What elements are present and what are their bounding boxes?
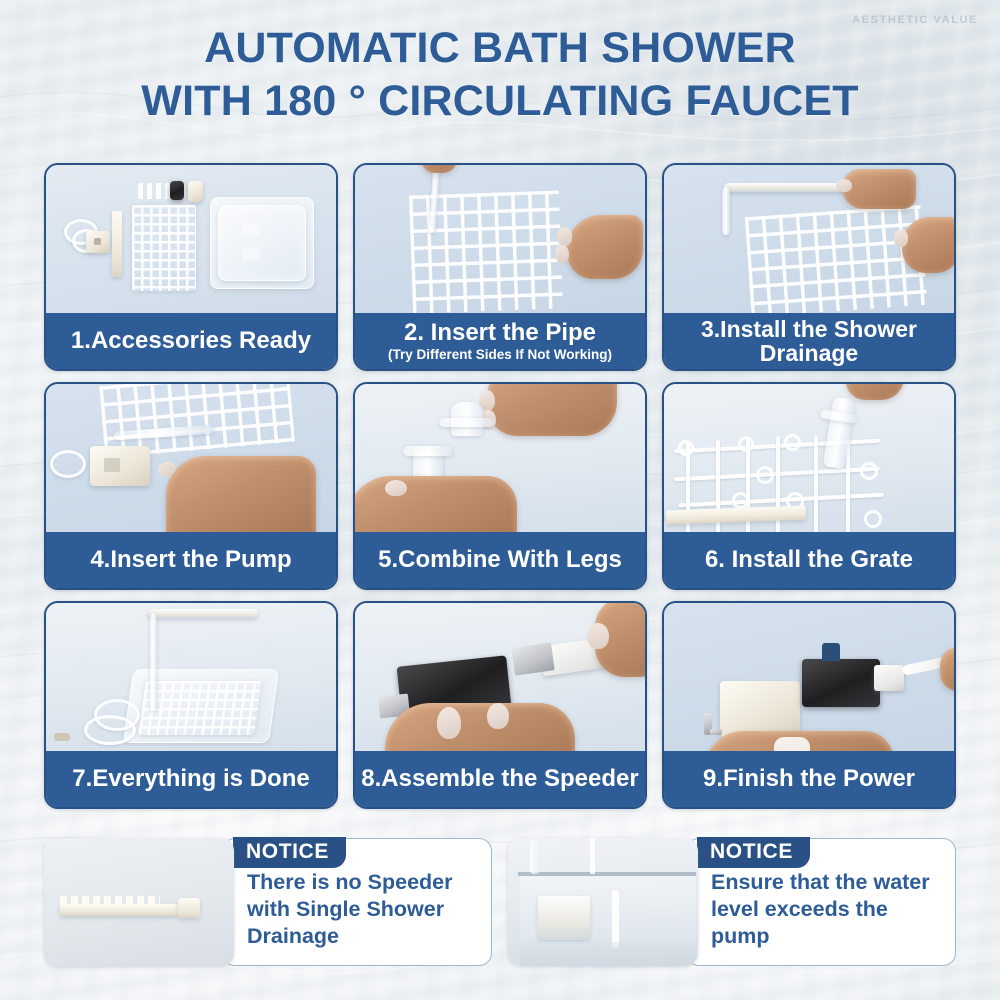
step-caption-text-6: 6. Install the Grate bbox=[705, 547, 913, 572]
step-card-7[interactable]: 7.Everything is Done bbox=[44, 601, 338, 809]
step-card-5[interactable]: 5.Combine With Legs bbox=[353, 382, 647, 590]
step-photo-6 bbox=[664, 384, 954, 536]
notice-text-2: Ensure that the water level exceeds the … bbox=[711, 869, 943, 950]
infographic-page: AESTHETIC VALUE AUTOMATIC BATH SHOWER WI… bbox=[0, 0, 1000, 1000]
step-photo-9 bbox=[664, 603, 954, 755]
step-caption-text-2: 2. Insert the Pipe bbox=[404, 320, 596, 345]
steps-row-1: 1.Accessories Ready 2. Insert the Pipe (… bbox=[44, 163, 956, 371]
step-card-4[interactable]: 4.Insert the Pump bbox=[44, 382, 338, 590]
step-photo-8 bbox=[355, 603, 645, 755]
step-caption-6: 6. Install the Grate bbox=[664, 532, 954, 588]
page-title-line-1: AUTOMATIC BATH SHOWER bbox=[204, 24, 796, 72]
step-caption-2: 2. Insert the Pipe (Try Different Sides … bbox=[355, 313, 645, 369]
steps-grid: 1.Accessories Ready 2. Insert the Pipe (… bbox=[44, 163, 956, 820]
step-caption-5: 5.Combine With Legs bbox=[355, 532, 645, 588]
step-caption-4: 4.Insert the Pump bbox=[46, 532, 336, 588]
step-caption-text-7: 7.Everything is Done bbox=[72, 766, 309, 791]
step-caption-7: 7.Everything is Done bbox=[46, 751, 336, 807]
step-caption-text-9: 9.Finish the Power bbox=[703, 766, 915, 791]
notice-label-2: NOTICE bbox=[697, 837, 810, 868]
step-caption-text-4: 4.Insert the Pump bbox=[90, 547, 291, 572]
step-card-2[interactable]: 2. Insert the Pipe (Try Different Sides … bbox=[353, 163, 647, 371]
step-caption-8: 8.Assemble the Speeder bbox=[355, 751, 645, 807]
step-caption-text-3: 3.Install the Shower bbox=[701, 317, 917, 341]
step-caption-text-8: 8.Assemble the Speeder bbox=[361, 766, 638, 791]
step-caption-line2-3: Drainage bbox=[760, 341, 858, 365]
step-card-9[interactable]: 9.Finish the Power bbox=[662, 601, 956, 809]
page-title-line-2: WITH 180 ° CIRCULATING FAUCET bbox=[0, 75, 1000, 128]
notice-body-1: NOTICE There is no Speeder with Single S… bbox=[222, 838, 492, 966]
step-photo-7 bbox=[46, 603, 336, 755]
notice-1: NOTICE There is no Speeder with Single S… bbox=[44, 838, 492, 966]
step-caption-9: 9.Finish the Power bbox=[664, 751, 954, 807]
step-photo-4 bbox=[46, 384, 336, 536]
step-caption-text-5: 5.Combine With Legs bbox=[378, 547, 622, 572]
step-caption-text-1: 1.Accessories Ready bbox=[71, 328, 311, 353]
notice-photo-2 bbox=[508, 838, 698, 966]
step-card-6[interactable]: 6. Install the Grate bbox=[662, 382, 956, 590]
notice-body-2: NOTICE Ensure that the water level excee… bbox=[686, 838, 956, 966]
page-title: AUTOMATIC BATH SHOWER WITH 180 ° CIRCULA… bbox=[0, 22, 1000, 129]
step-card-1[interactable]: 1.Accessories Ready bbox=[44, 163, 338, 371]
step-caption-1: 1.Accessories Ready bbox=[46, 313, 336, 369]
notice-photo-1 bbox=[44, 838, 234, 966]
step-card-8[interactable]: 8.Assemble the Speeder bbox=[353, 601, 647, 809]
notice-text-1: There is no Speeder with Single Shower D… bbox=[247, 869, 479, 950]
step-photo-2 bbox=[355, 165, 645, 317]
steps-row-3: 7.Everything is Done 8 bbox=[44, 601, 956, 809]
step-photo-5 bbox=[355, 384, 645, 536]
step-photo-1 bbox=[46, 165, 336, 317]
notice-label-1: NOTICE bbox=[233, 837, 346, 868]
notice-2: NOTICE Ensure that the water level excee… bbox=[508, 838, 956, 966]
step-photo-3 bbox=[664, 165, 954, 317]
step-card-3[interactable]: 3.Install the Shower Drainage bbox=[662, 163, 956, 371]
notices-row: NOTICE There is no Speeder with Single S… bbox=[44, 838, 956, 966]
step-caption-subtitle-2: (Try Different Sides If Not Working) bbox=[388, 348, 612, 362]
step-caption-3: 3.Install the Shower Drainage bbox=[664, 313, 954, 369]
steps-row-2: 4.Insert the Pump 5.Co bbox=[44, 382, 956, 590]
